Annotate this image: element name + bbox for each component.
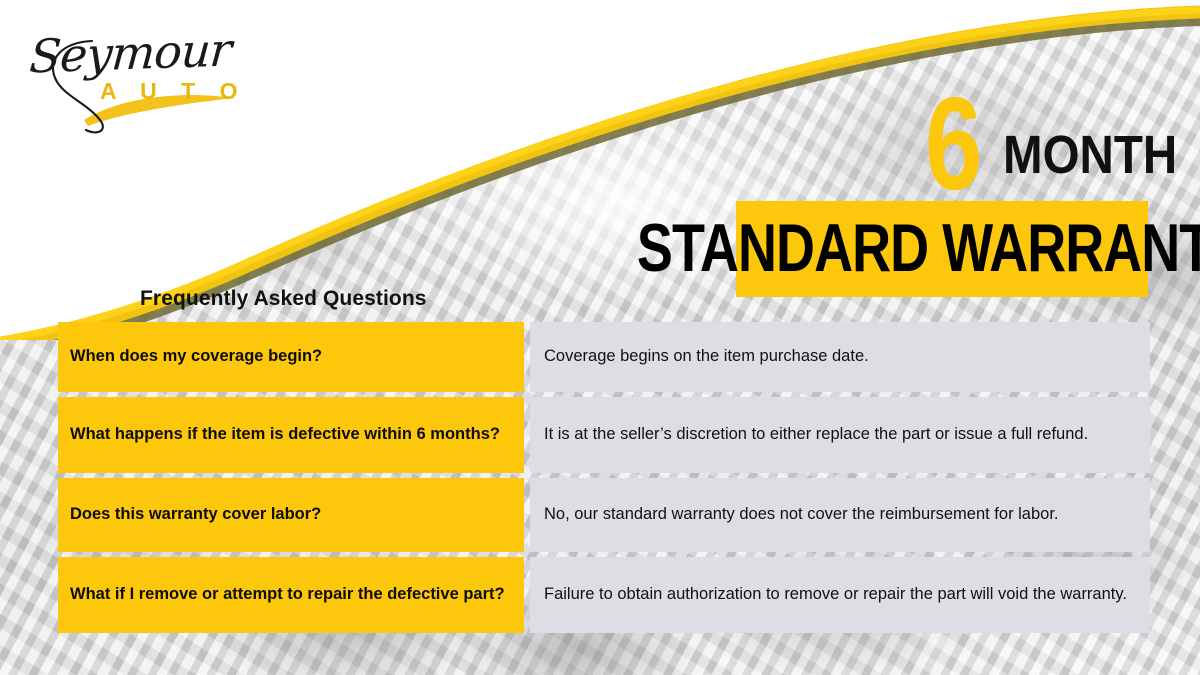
faq-heading: Frequently Asked Questions [140, 287, 427, 311]
table-row: What if I remove or attempt to repair th… [58, 557, 1150, 633]
logo-subtitle: A U T O [100, 78, 246, 105]
faq-answer-text: It is at the seller’s discretion to eith… [544, 424, 1136, 445]
faq-answer-cell: No, our standard warranty does not cover… [530, 478, 1150, 552]
faq-question-text: What if I remove or attempt to repair th… [70, 584, 505, 605]
faq-answer-cell: It is at the seller’s discretion to eith… [530, 397, 1150, 473]
faq-question-text: Does this warranty cover labor? [70, 504, 321, 525]
faq-question-text: When does my coverage begin? [70, 346, 322, 367]
faq-answer-text: No, our standard warranty does not cover… [544, 504, 1136, 525]
faq-question-cell: What happens if the item is defective wi… [58, 397, 524, 473]
faq-question-cell: What if I remove or attempt to repair th… [58, 557, 524, 633]
logo-wordmark: Seymour [28, 23, 233, 84]
table-row: Does this warranty cover labor? No, our … [58, 478, 1150, 552]
faq-answer-cell: Failure to obtain authorization to remov… [530, 557, 1150, 633]
warranty-duration-headline: 6 MONTH [925, 78, 1175, 188]
warranty-months-number: 6 [925, 93, 981, 196]
faq-answer-text: Coverage begins on the item purchase dat… [544, 346, 1136, 367]
standard-warranty-banner-text: STANDARD WARRANTY [637, 215, 1200, 282]
warranty-months-unit: MONTH [1003, 128, 1177, 182]
faq-question-cell: Does this warranty cover labor? [58, 478, 524, 552]
standard-warranty-banner: STANDARD WARRANTY [736, 201, 1148, 297]
seymour-auto-logo[interactable]: Seymour A U T O [22, 24, 252, 134]
faq-answer-text: Failure to obtain authorization to remov… [544, 584, 1136, 605]
faq-answer-cell: Coverage begins on the item purchase dat… [530, 322, 1150, 392]
warranty-slide: Seymour A U T O 6 MONTH STANDARD WARRANT… [0, 0, 1200, 675]
table-row: What happens if the item is defective wi… [58, 397, 1150, 473]
faq-question-cell: When does my coverage begin? [58, 322, 524, 392]
table-row: When does my coverage begin? Coverage be… [58, 322, 1150, 392]
faq-table: When does my coverage begin? Coverage be… [58, 322, 1150, 633]
faq-question-text: What happens if the item is defective wi… [70, 424, 500, 445]
